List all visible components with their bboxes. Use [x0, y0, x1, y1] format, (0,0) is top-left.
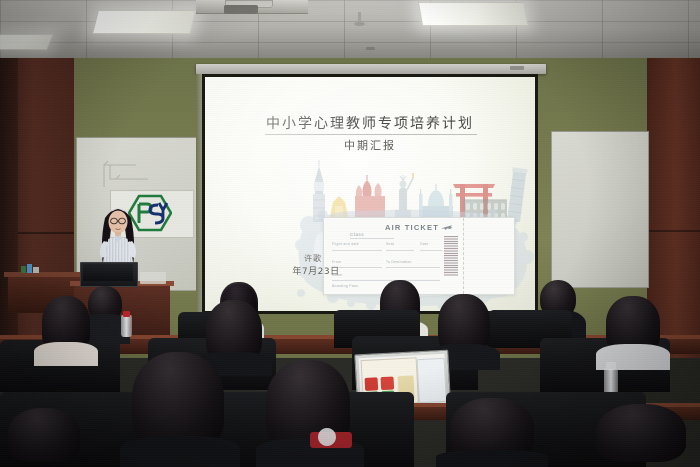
white-cup: [318, 428, 336, 446]
app-sidebar: [417, 358, 447, 403]
audience-person: [580, 404, 700, 467]
ticket-rule: [332, 250, 382, 251]
barcode-icon: [444, 236, 458, 276]
desk-objects: [20, 263, 42, 273]
whiteboard-right: [551, 131, 649, 288]
ticket-boarding-pass-label: Boarding Pass: [332, 284, 358, 288]
projector-icon: [224, 5, 258, 14]
ticket-rule: [386, 267, 440, 268]
slide-presenter-name: 许歌: [253, 253, 373, 264]
whiteboard-sketch: [96, 157, 158, 193]
app-tile: [381, 376, 395, 390]
screen-roller-knob: [510, 66, 524, 70]
ticket-class-label: Class: [350, 232, 364, 237]
audience-person: [256, 360, 364, 467]
wall-shadow-left: [0, 58, 18, 358]
ticket-rule: [350, 238, 394, 239]
wall-panel-seam: [647, 230, 700, 232]
ceiling-light-panel-icon: [0, 34, 53, 50]
audience-person: [120, 352, 240, 467]
ticket-seat-label: Seat: [386, 242, 394, 246]
slide-title-rule: [265, 134, 477, 135]
ticket-flight-date-label: Flight and date: [332, 242, 359, 246]
audience-person: [596, 296, 670, 370]
ceiling-fixture: [366, 47, 375, 50]
ceiling-light-panel-icon: [418, 2, 528, 26]
bottle-cap-icon: [123, 311, 130, 317]
podium-laptop-screen: [83, 264, 133, 281]
sprinkler-icon: [358, 12, 361, 23]
audience-person: [436, 398, 548, 467]
ticket-gate-label: Gate: [420, 242, 429, 246]
projection-screen: 中小学心理教师专项培养计划 中期汇报: [205, 77, 535, 311]
audience-person: [34, 296, 98, 366]
bottle-cap-icon: [606, 362, 616, 369]
ticket-rule: [420, 250, 442, 251]
audience-person: [0, 408, 96, 467]
app-tile: [365, 377, 379, 391]
projection-screen-housing: [196, 64, 546, 74]
classroom-photo: 中小学心理教师专项培养计划 中期汇报: [0, 0, 700, 467]
ticket-stub-panel: Seat and Gate To Destination Remarks: [465, 218, 514, 294]
side-desk-top: [4, 272, 86, 277]
airplane-icon: [441, 223, 453, 232]
ceiling-light-panel-icon: [92, 10, 196, 34]
slide-title: 中小学心理教师专项培养计划: [205, 113, 535, 133]
water-bottle: [121, 315, 132, 337]
ticket-rule: [386, 250, 414, 251]
podium-paper: [140, 272, 166, 284]
slide-subtitle: 中期汇报: [205, 137, 535, 153]
slide-date: 年7月23日: [241, 264, 391, 277]
